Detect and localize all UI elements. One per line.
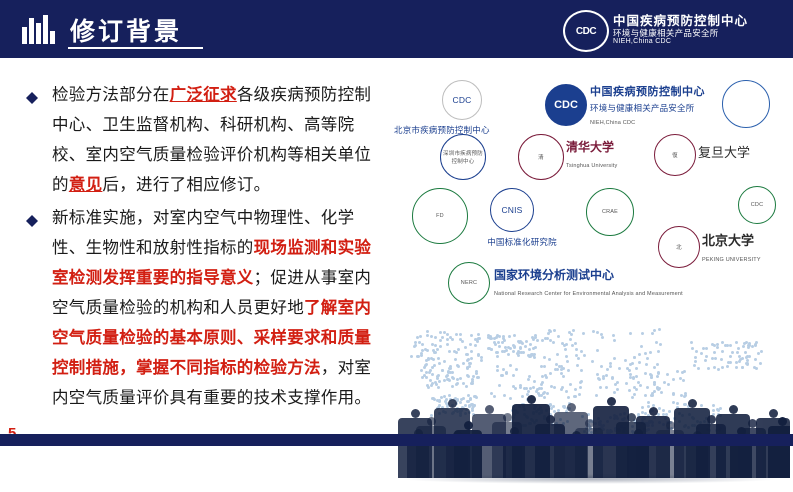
logo-peking-cn: 北京大学 — [702, 233, 754, 248]
map-dot — [693, 364, 696, 367]
map-dot — [565, 355, 568, 358]
map-dot — [640, 345, 643, 348]
map-dot — [448, 350, 451, 353]
logo-health-org-mark — [722, 80, 770, 128]
map-dot — [438, 362, 441, 365]
map-dot — [522, 351, 525, 354]
map-dot — [583, 354, 586, 357]
map-dot — [736, 351, 739, 354]
map-dot — [454, 358, 457, 361]
map-dot — [658, 328, 661, 331]
map-dot — [629, 332, 632, 335]
logo-fudan-cn: 复旦大学 — [698, 145, 750, 160]
map-dot — [541, 339, 544, 342]
map-dot — [721, 350, 724, 353]
map-dot — [517, 354, 520, 357]
logo-china-cdc-cn: 中国疾病预防控制中心 — [590, 86, 705, 98]
map-dot — [439, 345, 442, 348]
map-dot — [549, 330, 552, 333]
logo-crae-mark: CRAE — [586, 188, 634, 236]
map-dot — [633, 356, 636, 359]
logo-china-cdc-en: NIEH,China CDC — [590, 120, 635, 126]
map-dot — [536, 339, 539, 342]
map-dot — [437, 357, 440, 360]
map-dot — [629, 363, 632, 366]
cdc-logo-icon: CDC — [563, 10, 609, 52]
map-dot — [659, 343, 662, 346]
map-dot — [507, 353, 510, 356]
map-dot — [757, 352, 760, 355]
map-dot — [741, 357, 744, 360]
world-map-people-graphic — [390, 320, 790, 492]
map-dot — [480, 359, 483, 362]
map-dot — [436, 348, 439, 351]
map-dot — [474, 344, 477, 347]
map-dot — [503, 350, 506, 353]
logo-shenzhen-cdc-mark: 深圳市疾病预防控制中心 — [440, 134, 486, 180]
logo-peking-en: PEKING UNIVERSITY — [702, 257, 761, 263]
paragraph-1-text: 检验方法部分在广泛征求各级疾病预防控制中心、卫生监督机构、科研机构、高等院校、室… — [52, 80, 386, 200]
map-dot — [591, 360, 594, 363]
map-dot — [716, 346, 719, 349]
map-dot — [571, 344, 574, 347]
logo-cnis-mark-text: CNIS — [501, 205, 522, 215]
map-dot — [508, 335, 511, 338]
map-dot — [641, 332, 644, 335]
map-dot — [457, 348, 460, 351]
map-dot — [462, 362, 465, 365]
map-dot — [592, 330, 595, 333]
logo-tsinghua-mark: 清 — [518, 134, 564, 180]
logo-cnis-cn: 中国标准化研究院 — [487, 237, 557, 247]
map-dot — [691, 347, 694, 350]
map-dot — [410, 355, 413, 358]
map-dot — [759, 362, 762, 365]
logo-china-cdc-mark: CDC — [545, 84, 587, 126]
map-dot — [504, 346, 507, 349]
map-dot — [466, 353, 469, 356]
map-dot — [575, 348, 578, 351]
map-dot — [513, 345, 516, 348]
map-dot — [720, 358, 723, 361]
logo-nerc-mark-text: NERC — [461, 280, 477, 286]
map-dot — [557, 335, 560, 338]
map-dot — [502, 337, 505, 340]
map-dot — [657, 350, 660, 353]
text-run-0: 检验方法部分在 — [52, 86, 170, 104]
map-dot — [596, 349, 599, 352]
slide-header: 修订背景 CDC 中国疾病预防控制中心 环境与健康相关产品安全所 NIEH,Ch… — [0, 0, 793, 58]
map-dot — [737, 347, 740, 350]
map-dot — [705, 355, 708, 358]
map-dot — [575, 354, 578, 357]
people-silhouette — [390, 368, 790, 478]
map-dot — [714, 357, 717, 360]
map-dot — [443, 360, 446, 363]
map-dot — [446, 343, 449, 346]
map-dot — [494, 343, 497, 346]
map-dot — [748, 355, 751, 358]
map-dot — [694, 356, 697, 359]
map-dot — [561, 342, 564, 345]
page-title: 修订背景 — [70, 12, 182, 48]
map-dot — [543, 356, 546, 359]
map-dot — [580, 350, 583, 353]
map-dot — [532, 347, 535, 350]
map-dot — [426, 349, 429, 352]
map-dot — [624, 359, 627, 362]
logo-fd-green-text: FD — [436, 213, 444, 219]
logo-shenzhen-cdc-text: 深圳市疾病预防控制中心 — [441, 149, 485, 165]
map-dot — [649, 351, 652, 354]
map-dot — [426, 330, 429, 333]
map-dot — [469, 362, 472, 365]
logo-fudan-mark: 復 — [654, 134, 696, 176]
map-dot — [455, 351, 458, 354]
map-dot — [577, 357, 580, 360]
map-dot — [493, 337, 496, 340]
logo-fudan-mark-text: 復 — [672, 151, 678, 159]
map-dot — [490, 348, 493, 351]
map-dot — [446, 333, 449, 336]
map-dot — [420, 354, 423, 357]
map-dot — [754, 344, 757, 347]
map-dot — [498, 345, 501, 348]
map-dot — [569, 338, 572, 341]
map-dot — [498, 335, 501, 338]
map-dot — [582, 332, 585, 335]
logo-nerc-cn: 国家环境分析测试中心 — [494, 268, 614, 282]
map-dot — [572, 329, 575, 332]
map-dot — [419, 335, 422, 338]
map-dot — [731, 351, 734, 354]
map-dot — [760, 350, 763, 353]
map-dot — [704, 359, 707, 362]
map-dot — [413, 345, 416, 348]
logo-peking-university-mark: 北 — [658, 226, 700, 268]
map-dot — [496, 355, 499, 358]
map-dot — [695, 350, 698, 353]
map-dot — [477, 353, 480, 356]
map-dot — [513, 334, 516, 337]
logo-nerc-en: National Research Center for Environment… — [494, 291, 683, 297]
logo-tsinghua-en: Tsinghua University — [566, 163, 618, 169]
map-dot — [574, 342, 577, 345]
map-dot — [426, 334, 429, 337]
map-dot — [433, 364, 436, 367]
logo-beijing-cdc-mark: CDC — [442, 80, 482, 120]
map-dot — [612, 334, 615, 337]
bullet-paragraph-2: 新标准实施，对室内空气中物理性、化学性、生物性和放射性指标的现场监测和实验室检测… — [26, 203, 386, 413]
map-dot — [439, 339, 442, 342]
map-dot — [746, 359, 749, 362]
map-dot — [459, 338, 462, 341]
logo-china-cdc-line3: NIEH,China CDC — [590, 111, 635, 129]
slide-body: 检验方法部分在广泛征求各级疾病预防控制中心、卫生监督机构、科研机构、高等院校、室… — [0, 58, 793, 446]
logo-line-3: NIEH,China CDC — [613, 38, 671, 45]
map-dot — [656, 363, 659, 366]
map-dot — [729, 361, 732, 364]
map-dot — [548, 358, 551, 361]
map-dot — [705, 347, 708, 350]
map-dot — [568, 331, 571, 334]
map-dot — [524, 345, 527, 348]
logo-crae-mark-text: CRAE — [602, 209, 618, 215]
map-dot — [729, 344, 732, 347]
map-dot — [613, 339, 616, 342]
logo-cdc-small-mark: CDC — [738, 186, 776, 224]
map-dot — [512, 350, 515, 353]
logo-cnis-mark: CNIS — [490, 188, 534, 232]
logo-tsinghua-mark-text: 清 — [538, 153, 544, 161]
map-dot — [446, 338, 449, 341]
organization-logo: CDC 中国疾病预防控制中心 环境与健康相关产品安全所 NIEH,China C… — [563, 8, 783, 50]
text-run-1: 广泛征求 — [170, 86, 237, 104]
logo-cnis-label: 中国标准化研究院 — [472, 232, 572, 250]
text-run-4: 后，进行了相应修订。 — [102, 176, 270, 194]
map-dot — [501, 341, 504, 344]
map-dot — [477, 333, 480, 336]
map-dot — [441, 336, 444, 339]
map-dot — [425, 359, 428, 362]
map-dot — [601, 336, 604, 339]
map-dot — [519, 347, 522, 350]
logo-beijing-cdc-mark-text: CDC — [452, 95, 471, 105]
map-dot — [459, 333, 462, 336]
map-dot — [456, 364, 459, 367]
map-dot — [565, 343, 568, 346]
bullet-diamond-icon — [26, 209, 38, 221]
map-dot — [455, 333, 458, 336]
map-dot — [713, 351, 716, 354]
bullet-diamond-icon — [26, 86, 38, 98]
map-dot — [552, 341, 555, 344]
map-dot — [755, 341, 758, 344]
map-dot — [470, 334, 473, 337]
logo-peking-university-label: 北京大学 — [702, 230, 754, 250]
map-dot — [690, 341, 693, 344]
paragraph-2-text: 新标准实施，对室内空气中物理性、化学性、生物性和放射性指标的现场监测和实验室检测… — [52, 203, 386, 413]
map-dot — [439, 331, 442, 334]
map-dot — [528, 348, 531, 351]
map-dot — [596, 331, 599, 334]
logo-nerc-mark: NERC — [448, 262, 490, 304]
map-dot — [613, 357, 616, 360]
logo-china-cdc-mark-text: CDC — [554, 99, 578, 111]
map-dot — [566, 360, 569, 363]
map-dot — [414, 341, 417, 344]
map-dot — [694, 360, 697, 363]
map-dot — [431, 343, 434, 346]
logo-beijing-cdc-text: 北京市疾病预防控制中心 — [394, 125, 490, 135]
logo-cdc-small-text: CDC — [751, 202, 764, 208]
map-dot — [532, 354, 535, 357]
map-dot — [645, 363, 648, 366]
map-dot — [742, 345, 745, 348]
map-dot — [467, 358, 470, 361]
footer-strip — [0, 434, 793, 446]
logo-nerc-en-label: National Research Center for Environment… — [494, 282, 724, 300]
map-dot — [754, 358, 757, 361]
map-dot — [470, 350, 473, 353]
bullet-paragraph-1: 检验方法部分在广泛征求各级疾病预防控制中心、卫生监督机构、科研机构、高等院校、室… — [26, 80, 386, 200]
bar-chart-icon — [22, 14, 56, 44]
map-dot — [638, 353, 641, 356]
logo-tsinghua-cn: 清华大学 — [566, 140, 614, 154]
map-dot — [434, 344, 437, 347]
map-dot — [421, 343, 424, 346]
map-dot — [729, 355, 732, 358]
map-dot — [727, 361, 730, 364]
map-dot — [434, 336, 437, 339]
map-dot — [430, 335, 433, 338]
map-dot — [464, 346, 467, 349]
map-dot — [529, 343, 532, 346]
map-dot — [478, 337, 481, 340]
map-dot — [735, 341, 738, 344]
logo-fd-green-mark: FD — [412, 188, 468, 244]
logo-peking-university-en-label: PEKING UNIVERSITY — [702, 248, 761, 266]
logo-tsinghua-en-label: Tsinghua University — [566, 154, 618, 172]
map-dot — [644, 352, 647, 355]
logo-fudan-label: 复旦大学 — [698, 142, 750, 162]
map-dot — [576, 364, 579, 367]
map-dot — [497, 341, 500, 344]
map-dot — [738, 360, 741, 363]
map-dot — [525, 340, 528, 343]
map-dot — [553, 329, 556, 332]
map-dot — [496, 351, 499, 354]
map-dot — [700, 352, 703, 355]
map-dot — [469, 343, 472, 346]
map-dot — [651, 332, 654, 335]
text-run-3: 意见 — [69, 176, 103, 194]
map-dot — [556, 353, 559, 356]
logo-peking-mark-text: 北 — [676, 243, 682, 251]
map-dot — [653, 329, 656, 332]
map-dot — [744, 351, 747, 354]
map-dot — [470, 357, 473, 360]
map-dot — [638, 361, 641, 364]
map-dot — [745, 362, 748, 365]
map-dot — [655, 341, 658, 344]
map-dot — [564, 348, 567, 351]
title-underline — [68, 47, 203, 49]
map-dot — [646, 357, 649, 360]
